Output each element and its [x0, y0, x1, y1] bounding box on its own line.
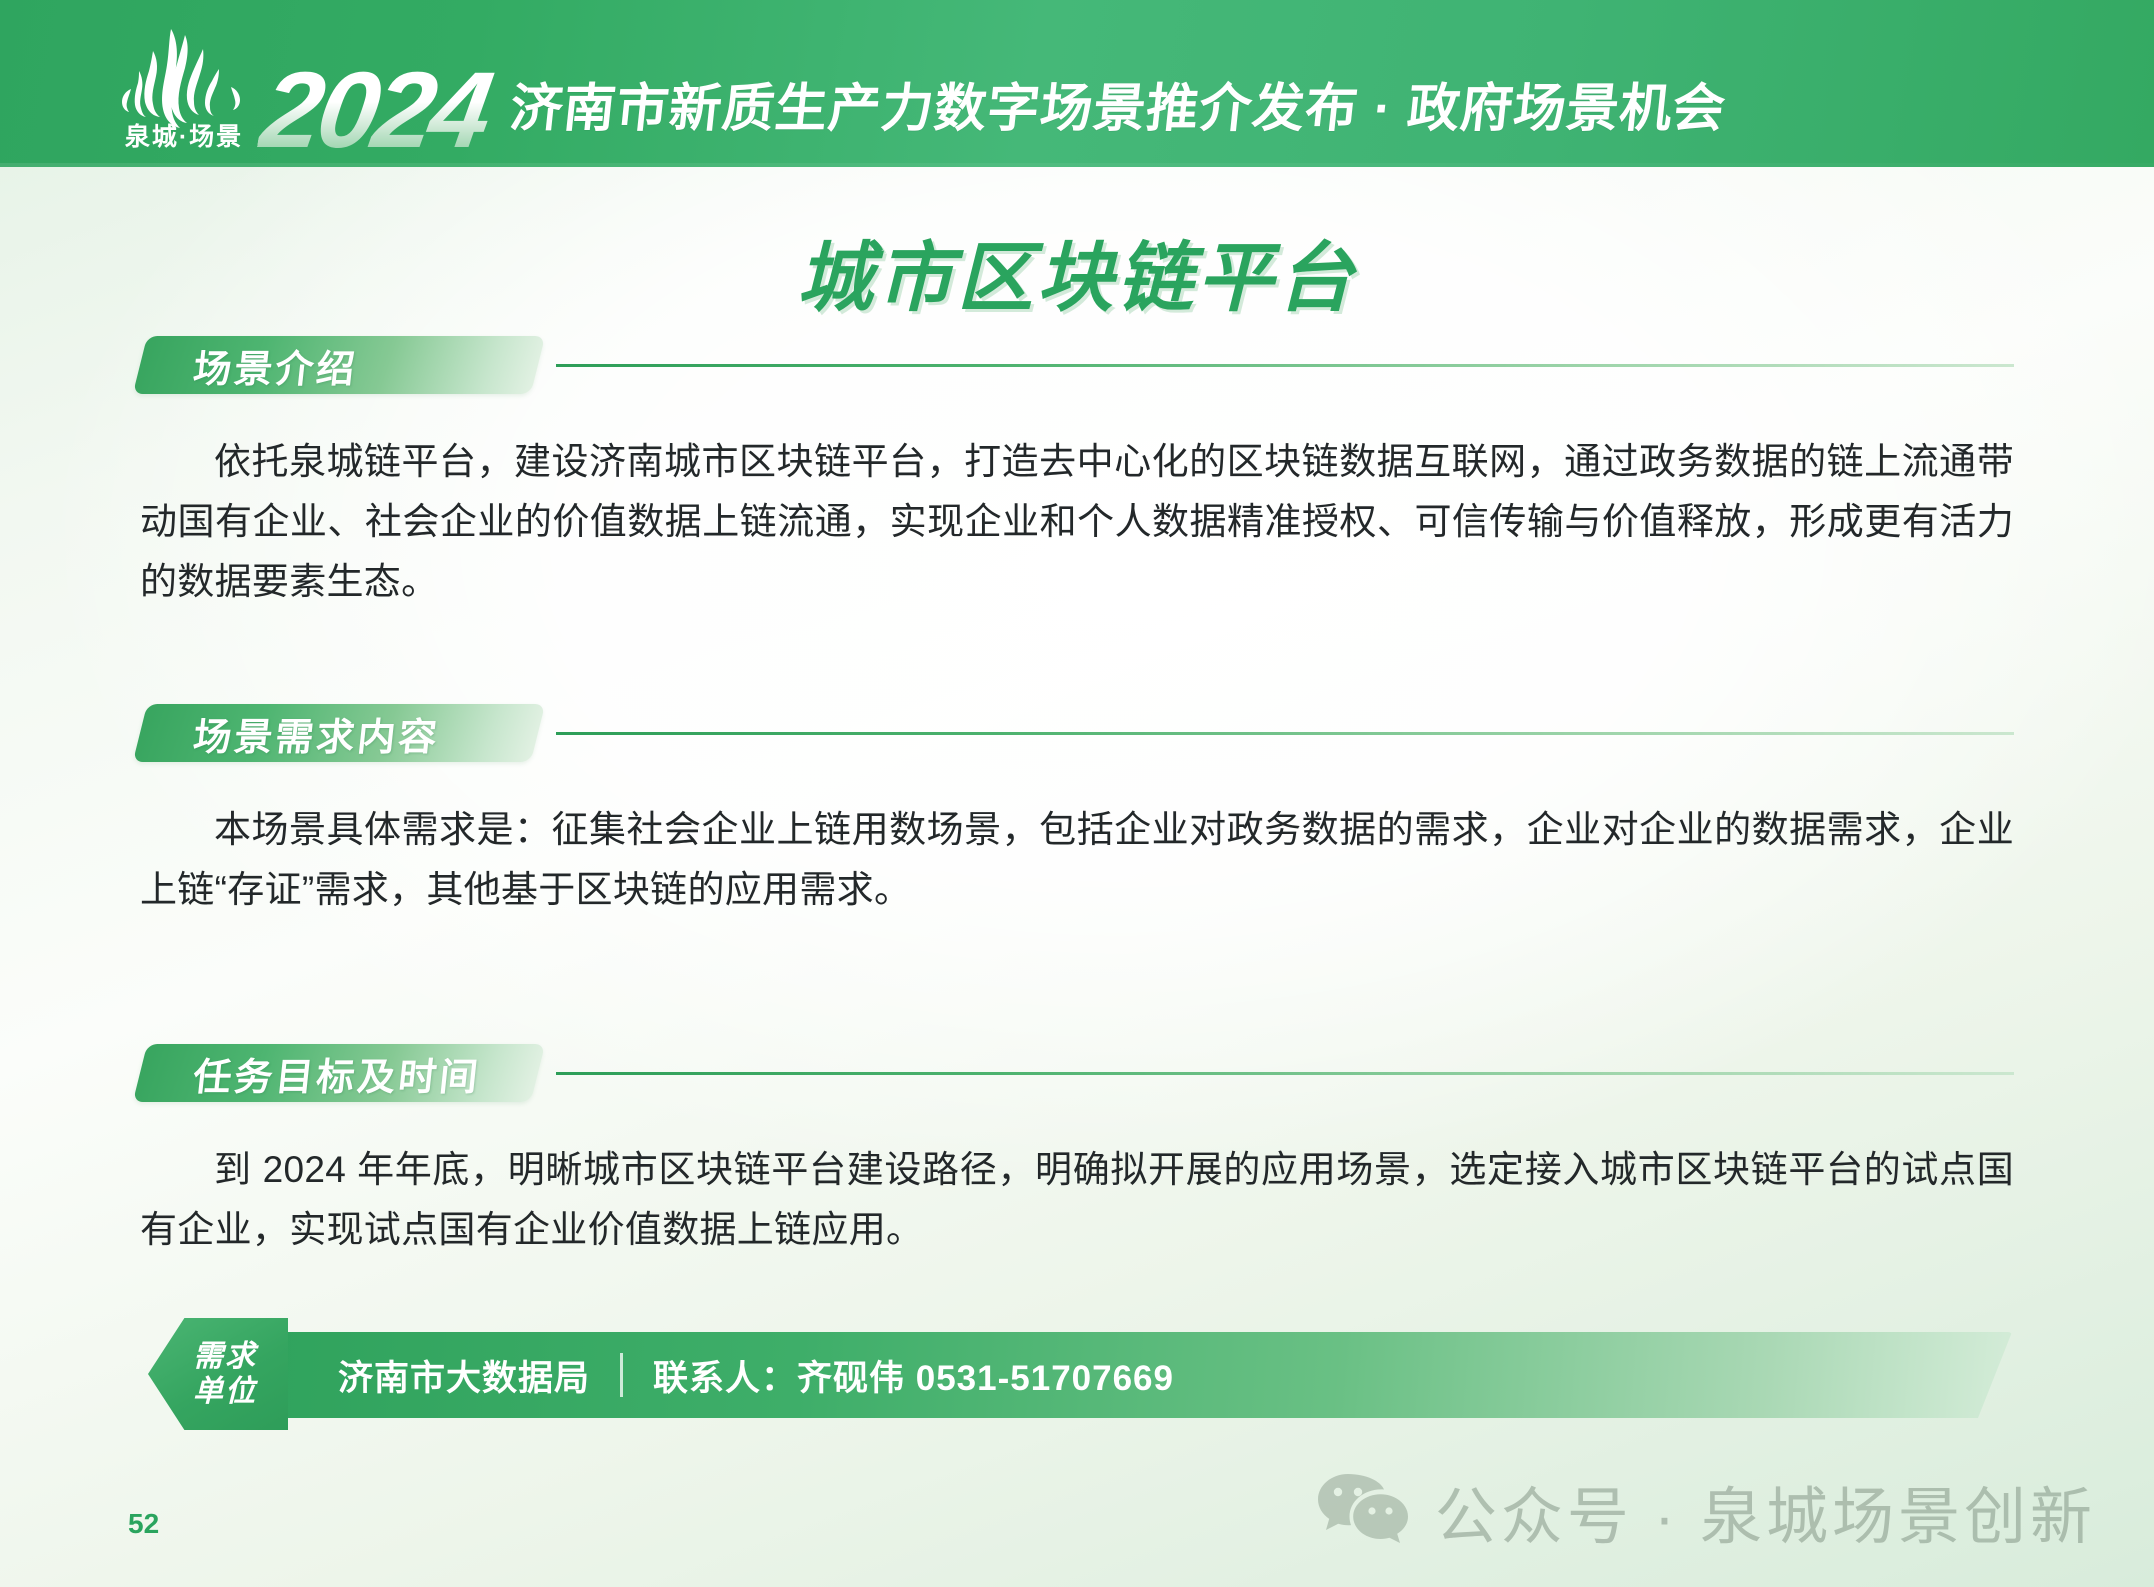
section-badge-label: 场景介绍 [191, 338, 361, 393]
hex-badge-line2: 单位 [193, 1374, 257, 1409]
section-body-text: 到 2024 年年底，明晰城市区块链平台建设路径，明确拟开展的应用场景，选定接入… [140, 1140, 2014, 1260]
demand-unit-hex-badge: 需求 单位 [148, 1318, 288, 1430]
section-requirement: 场景需求内容 本场景具体需求是：征集社会企业上链用数场景，包括企业对政务数据的需… [0, 700, 2154, 920]
contact-divider [620, 1353, 623, 1397]
section-badge: 场景需求内容 [133, 704, 545, 762]
wechat-icon [1317, 1472, 1409, 1550]
badge-connector-line [556, 364, 2014, 367]
poster-page: 泉城·场景 2024 济南市新质生产力数字场景推介发布 · 政府场景机会 城市区… [0, 0, 2154, 1587]
section-badge-label: 场景需求内容 [191, 706, 443, 761]
hex-badge-line1: 需求 [193, 1339, 257, 1374]
badge-connector-line [556, 1072, 2014, 1075]
contact-person: 联系人：齐砚伟 0531-51707669 [653, 1350, 1174, 1401]
watermark: 公众号 · 泉城场景创新 [1317, 1466, 2096, 1556]
contact-bar: 济南市大数据局 联系人：齐砚伟 0531-51707669 [228, 1332, 2012, 1418]
contact-organization: 济南市大数据局 [338, 1350, 590, 1401]
page-number: 52 [128, 1508, 159, 1540]
header-year: 2024 [255, 62, 500, 157]
page-title: 城市区块链平台 [0, 216, 2154, 326]
header-title: 济南市新质生产力数字场景推介发布 · 政府场景机会 [507, 66, 1730, 141]
header-brand-group: 泉城·场景 2024 济南市新质生产力数字场景推介发布 · 政府场景机会 [105, 31, 1726, 151]
watermark-text: 公众号 · 泉城场景创新 [1435, 1466, 2096, 1556]
section-badge-label: 任务目标及时间 [191, 1046, 484, 1101]
logo-caption: 泉城·场景 [109, 117, 259, 153]
section-badge-row: 场景需求内容 [140, 700, 2014, 766]
badge-connector-line [556, 732, 2014, 735]
section-badge: 场景介绍 [133, 336, 545, 394]
section-scene-intro: 场景介绍 依托泉城链平台，建设济南城市区块链平台，打造去中心化的区块链数据互联网… [0, 332, 2154, 612]
spring-water-logo-icon: 泉城·场景 [105, 31, 257, 151]
section-body-text: 依托泉城链平台，建设济南城市区块链平台，打造去中心化的区块链数据互联网，通过政务… [140, 432, 2014, 612]
section-body-text: 本场景具体需求是：征集社会企业上链用数场景，包括企业对政务数据的需求，企业对企业… [140, 800, 2014, 920]
section-badge-row: 场景介绍 [140, 332, 2014, 398]
section-task-goal: 任务目标及时间 到 2024 年年底，明晰城市区块链平台建设路径，明确拟开展的应… [0, 1040, 2154, 1260]
section-badge-row: 任务目标及时间 [140, 1040, 2014, 1106]
section-badge: 任务目标及时间 [133, 1044, 545, 1102]
header-bar: 泉城·场景 2024 济南市新质生产力数字场景推介发布 · 政府场景机会 [0, 0, 2154, 167]
contact-footer: 济南市大数据局 联系人：齐砚伟 0531-51707669 需求 单位 [0, 1318, 2154, 1430]
